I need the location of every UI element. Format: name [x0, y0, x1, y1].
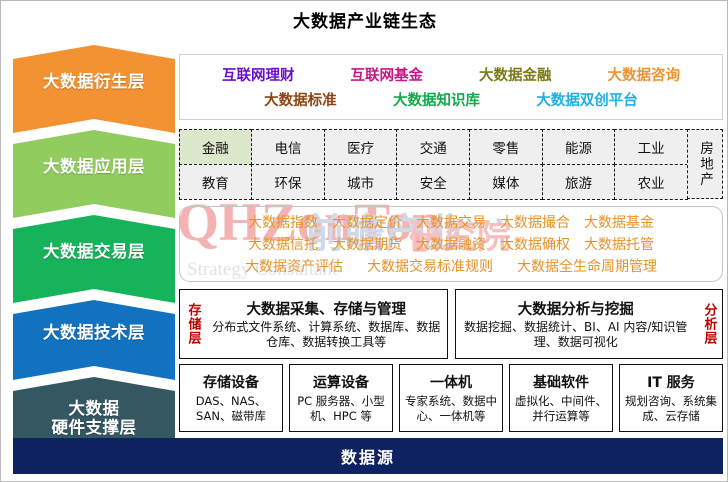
application-cell[interactable]: 环保: [251, 164, 325, 200]
technology-content-storage: 大数据采集、存储与管理 分布式文件系统、计算系统、数据库、数据仓库、数据转换工具…: [206, 290, 447, 358]
application-cell[interactable]: 旅游: [542, 164, 616, 200]
technology-box-analysis[interactable]: 大数据分析与挖掘 数据挖掘、数据统计、BI、AI 内容/知识管理、数据可视化 分…: [455, 289, 724, 359]
application-cell[interactable]: 金融: [179, 129, 253, 165]
application-cell[interactable]: 电信: [251, 129, 325, 165]
hardware-box[interactable]: 一体机专家系统、数据中心、一体机等: [399, 364, 503, 432]
hardware-box[interactable]: 存储设备DAS、NAS、SAN、磁带库: [179, 364, 283, 432]
transaction-item[interactable]: 大数据交易标准规则: [367, 256, 493, 276]
application-cell[interactable]: 农业: [614, 164, 688, 200]
hardware-desc: 虚拟化、中间件、并行运算等: [513, 394, 609, 424]
transaction-item[interactable]: 大数据托管: [584, 234, 654, 254]
layer-label-application: 大数据应用层: [43, 157, 145, 176]
layer-chevron-technology[interactable]: 大数据技术层: [13, 300, 175, 380]
technology-title-storage: 大数据采集、存储与管理: [247, 298, 407, 319]
layer-label-stack: 大数据衍生层 大数据应用层 大数据交易层 大数据技术层 大数据硬件支撑层: [13, 45, 175, 435]
layer-chevron-application[interactable]: 大数据应用层: [13, 130, 175, 218]
application-cell[interactable]: 媒体: [469, 164, 543, 200]
transaction-item[interactable]: 大数据确权: [500, 234, 570, 254]
application-cell-realestate[interactable]: 房地产: [687, 129, 723, 199]
technology-box-storage[interactable]: 存储层 大数据采集、存储与管理 分布式文件系统、计算系统、数据库、数据仓库、数据…: [179, 289, 448, 359]
hardware-title: 基础软件: [533, 372, 589, 392]
derivative-item[interactable]: 大数据标准: [264, 89, 337, 110]
hardware-box[interactable]: 运算设备PC 服务器、小型机、HPC 等: [289, 364, 393, 432]
derivative-item[interactable]: 大数据知识库: [393, 89, 480, 110]
hardware-title: 存储设备: [203, 372, 259, 392]
technology-side-label-analysis: 分析层: [696, 290, 722, 358]
transaction-item[interactable]: 大数据期货: [332, 234, 402, 254]
derivative-item[interactable]: 大数据金融: [479, 64, 552, 85]
technology-side-label-storage: 存储层: [180, 290, 206, 358]
hardware-title: IT 服务: [647, 372, 695, 392]
derivative-item[interactable]: 互联网理财: [222, 64, 295, 85]
layer-chevron-derivative[interactable]: 大数据衍生层: [13, 45, 175, 133]
application-cell[interactable]: 交通: [396, 129, 470, 165]
transaction-item[interactable]: 大数据基金: [584, 212, 654, 232]
technology-desc-analysis: 数据挖掘、数据统计、BI、AI 内容/知识管理、数据可视化: [459, 320, 694, 351]
hardware-desc: 规划咨询、系统集成、云存储: [623, 394, 719, 424]
layer-label-derivative: 大数据衍生层: [43, 72, 145, 91]
panel-technology-layer: 存储层 大数据采集、存储与管理 分布式文件系统、计算系统、数据库、数据仓库、数据…: [179, 289, 723, 359]
page-title: 大数据产业链生态: [1, 7, 728, 32]
transaction-item[interactable]: 大数据指数: [248, 212, 318, 232]
panel-hardware-layer: 存储设备DAS、NAS、SAN、磁带库运算设备PC 服务器、小型机、HPC 等一…: [179, 364, 723, 432]
application-cell[interactable]: 能源: [542, 129, 616, 165]
derivative-row-1: 互联网理财互联网基金大数据金融大数据咨询: [180, 62, 722, 87]
diagram-canvas: 大数据产业链生态 QHZonTop 前瞻产业 研究院 Strategy Cons…: [0, 0, 728, 482]
technology-desc-storage: 分布式文件系统、计算系统、数据库、数据仓库、数据转换工具等: [209, 320, 444, 351]
application-grid: 金融电信医疗交通零售能源工业教育环保城市安全媒体旅游农业: [179, 129, 688, 199]
transaction-item[interactable]: 大数据撮合: [500, 212, 570, 232]
hardware-desc: 专家系统、数据中心、一体机等: [403, 394, 499, 424]
transaction-item[interactable]: 大数据信托: [248, 234, 318, 254]
application-cell[interactable]: 零售: [469, 129, 543, 165]
application-cell[interactable]: 工业: [614, 129, 688, 165]
transaction-item[interactable]: 大数据全生命周期管理: [517, 256, 657, 276]
hardware-title: 运算设备: [313, 372, 369, 392]
transaction-row-2: 大数据信托大数据期货大数据融资大数据确权大数据托管: [180, 233, 722, 255]
panel-transaction-layer: 大数据指数大数据定价大数据交易大数据撮合大数据基金 大数据信托大数据期货大数据融…: [179, 206, 723, 282]
layer-label-technology: 大数据技术层: [43, 323, 145, 342]
transaction-item[interactable]: 大数据定价: [332, 212, 402, 232]
technology-title-analysis: 大数据分析与挖掘: [518, 298, 634, 319]
application-cell[interactable]: 安全: [396, 164, 470, 200]
panel-application-layer: 金融电信医疗交通零售能源工业教育环保城市安全媒体旅游农业 房地产: [179, 129, 723, 199]
application-cell[interactable]: 医疗: [324, 129, 398, 165]
hardware-desc: PC 服务器、小型机、HPC 等: [293, 394, 389, 424]
transaction-row-1: 大数据指数大数据定价大数据交易大数据撮合大数据基金: [180, 211, 722, 233]
transaction-item[interactable]: 大数据融资: [416, 234, 486, 254]
application-cell[interactable]: 教育: [179, 164, 253, 200]
transaction-row-3: 大数据资产评估大数据交易标准规则大数据全生命周期管理: [180, 255, 722, 277]
derivative-item[interactable]: 互联网基金: [351, 64, 424, 85]
derivative-item[interactable]: 大数据双创平台: [536, 89, 638, 110]
layer-label-hardware: 大数据硬件支撑层: [52, 399, 137, 438]
panel-derivative-layer: 互联网理财互联网基金大数据金融大数据咨询 大数据标准大数据知识库大数据双创平台: [179, 54, 723, 120]
layer-chevron-transaction[interactable]: 大数据交易层: [13, 215, 175, 303]
hardware-box[interactable]: 基础软件虚拟化、中间件、并行运算等: [509, 364, 613, 432]
derivative-item[interactable]: 大数据咨询: [608, 64, 681, 85]
derivative-row-2: 大数据标准大数据知识库大数据双创平台: [180, 87, 722, 112]
datasource-bar[interactable]: 数据源: [13, 438, 723, 474]
hardware-box[interactable]: IT 服务规划咨询、系统集成、云存储: [619, 364, 723, 432]
hardware-desc: DAS、NAS、SAN、磁带库: [183, 394, 279, 424]
technology-content-analysis: 大数据分析与挖掘 数据挖掘、数据统计、BI、AI 内容/知识管理、数据可视化: [456, 290, 697, 358]
layer-label-transaction: 大数据交易层: [43, 242, 145, 261]
transaction-item[interactable]: 大数据资产评估: [245, 256, 343, 276]
transaction-item[interactable]: 大数据交易: [416, 212, 486, 232]
hardware-title: 一体机: [430, 372, 472, 392]
application-cell[interactable]: 城市: [324, 164, 398, 200]
